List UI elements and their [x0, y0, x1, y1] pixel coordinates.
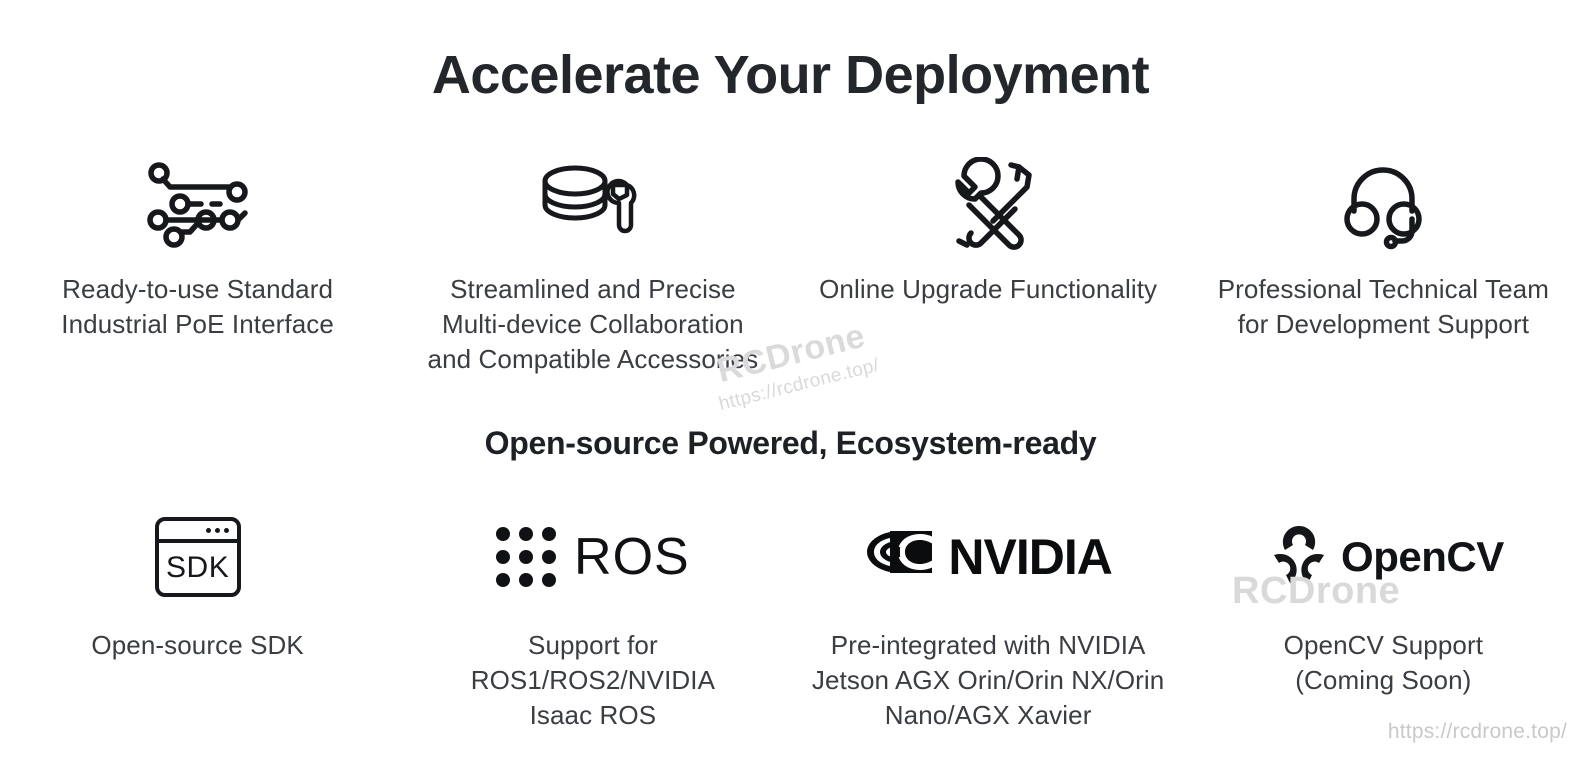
circuit-network-icon [146, 150, 250, 258]
caption-line: Online Upgrade Functionality [819, 272, 1157, 307]
window-dot-icon [215, 528, 220, 533]
caption-line: OpenCV Support [1284, 628, 1483, 663]
database-wrench-icon [539, 150, 647, 258]
ros-dot-grid-icon [496, 527, 556, 587]
page-title: Accelerate Your Deployment [0, 46, 1581, 105]
nvidia-eye-icon [864, 529, 934, 585]
feature-item-technical-team: Professional Technical Team for Developm… [1186, 150, 1581, 377]
caption-line: Professional Technical Team [1218, 272, 1549, 307]
nvidia-logo-icon: NVIDIA [864, 508, 1111, 606]
sdk-window-icon: SDK [155, 508, 241, 606]
feature-caption: Online Upgrade Functionality [819, 272, 1157, 307]
footer-url: https://rcdrone.top/ [1388, 720, 1567, 744]
window-dot-icon [206, 528, 211, 533]
ecosystem-item-sdk: SDK Open-source SDK [0, 508, 395, 733]
ecosystem-item-opencv: OpenCV OpenCV Support (Coming Soon) [1186, 508, 1581, 733]
caption-line: Ready-to-use Standard [61, 272, 334, 307]
features-row: Ready-to-use Standard Industrial PoE Int… [0, 150, 1581, 377]
window-dot-icon [224, 528, 229, 533]
feature-item-poe-interface: Ready-to-use Standard Industrial PoE Int… [0, 150, 395, 377]
ecosystem-caption: Open-source SDK [91, 628, 303, 663]
caption-line: Streamlined and Precise [428, 272, 759, 307]
ecosystem-row: SDK Open-source SDK ROS Support for ROS1… [0, 508, 1581, 733]
ecosystem-caption: Support for ROS1/ROS2/NVIDIA Isaac ROS [413, 628, 773, 733]
section-title: Open-source Powered, Ecosystem-ready [0, 424, 1581, 462]
ros-wordmark: ROS [574, 531, 690, 583]
headset-support-icon [1337, 150, 1429, 258]
caption-line: Nano/AGX Xavier [812, 698, 1164, 733]
caption-line: Open-source SDK [91, 628, 303, 663]
ecosystem-caption: Pre-integrated with NVIDIA Jetson AGX Or… [812, 628, 1164, 733]
caption-line: (Coming Soon) [1284, 663, 1483, 698]
feature-caption: Streamlined and Precise Multi-device Col… [428, 272, 759, 377]
feature-caption: Professional Technical Team for Developm… [1218, 272, 1549, 342]
sdk-label: SDK [159, 543, 237, 593]
feature-item-multi-device: Streamlined and Precise Multi-device Col… [395, 150, 790, 377]
opencv-wordmark: OpenCV [1341, 536, 1504, 578]
caption-line: Multi-device Collaboration [428, 307, 759, 342]
ecosystem-caption: OpenCV Support (Coming Soon) [1284, 628, 1483, 698]
page-root: Accelerate Your Deployment [0, 0, 1581, 762]
caption-line: Support for ROS1/ROS2/NVIDIA [413, 628, 773, 698]
wrench-screwdriver-icon [941, 150, 1035, 258]
feature-item-online-upgrade: Online Upgrade Functionality [791, 150, 1186, 377]
ros-logo-icon: ROS [496, 508, 690, 606]
caption-line: Isaac ROS [413, 698, 773, 733]
nvidia-wordmark: NVIDIA [948, 532, 1111, 582]
feature-caption: Ready-to-use Standard Industrial PoE Int… [61, 272, 334, 342]
caption-line: Jetson AGX Orin/Orin NX/Orin [812, 663, 1164, 698]
caption-line: Pre-integrated with NVIDIA [812, 628, 1164, 663]
sdk-titlebar [159, 521, 237, 543]
ecosystem-item-nvidia: NVIDIA Pre-integrated with NVIDIA Jetson… [791, 508, 1186, 733]
caption-line: for Development Support [1218, 307, 1549, 342]
opencv-mark-icon [1263, 524, 1335, 590]
opencv-logo-icon: OpenCV [1263, 508, 1504, 606]
caption-line: Industrial PoE Interface [61, 307, 334, 342]
ecosystem-item-ros: ROS Support for ROS1/ROS2/NVIDIA Isaac R… [395, 508, 790, 733]
caption-line: and Compatible Accessories [428, 342, 759, 377]
